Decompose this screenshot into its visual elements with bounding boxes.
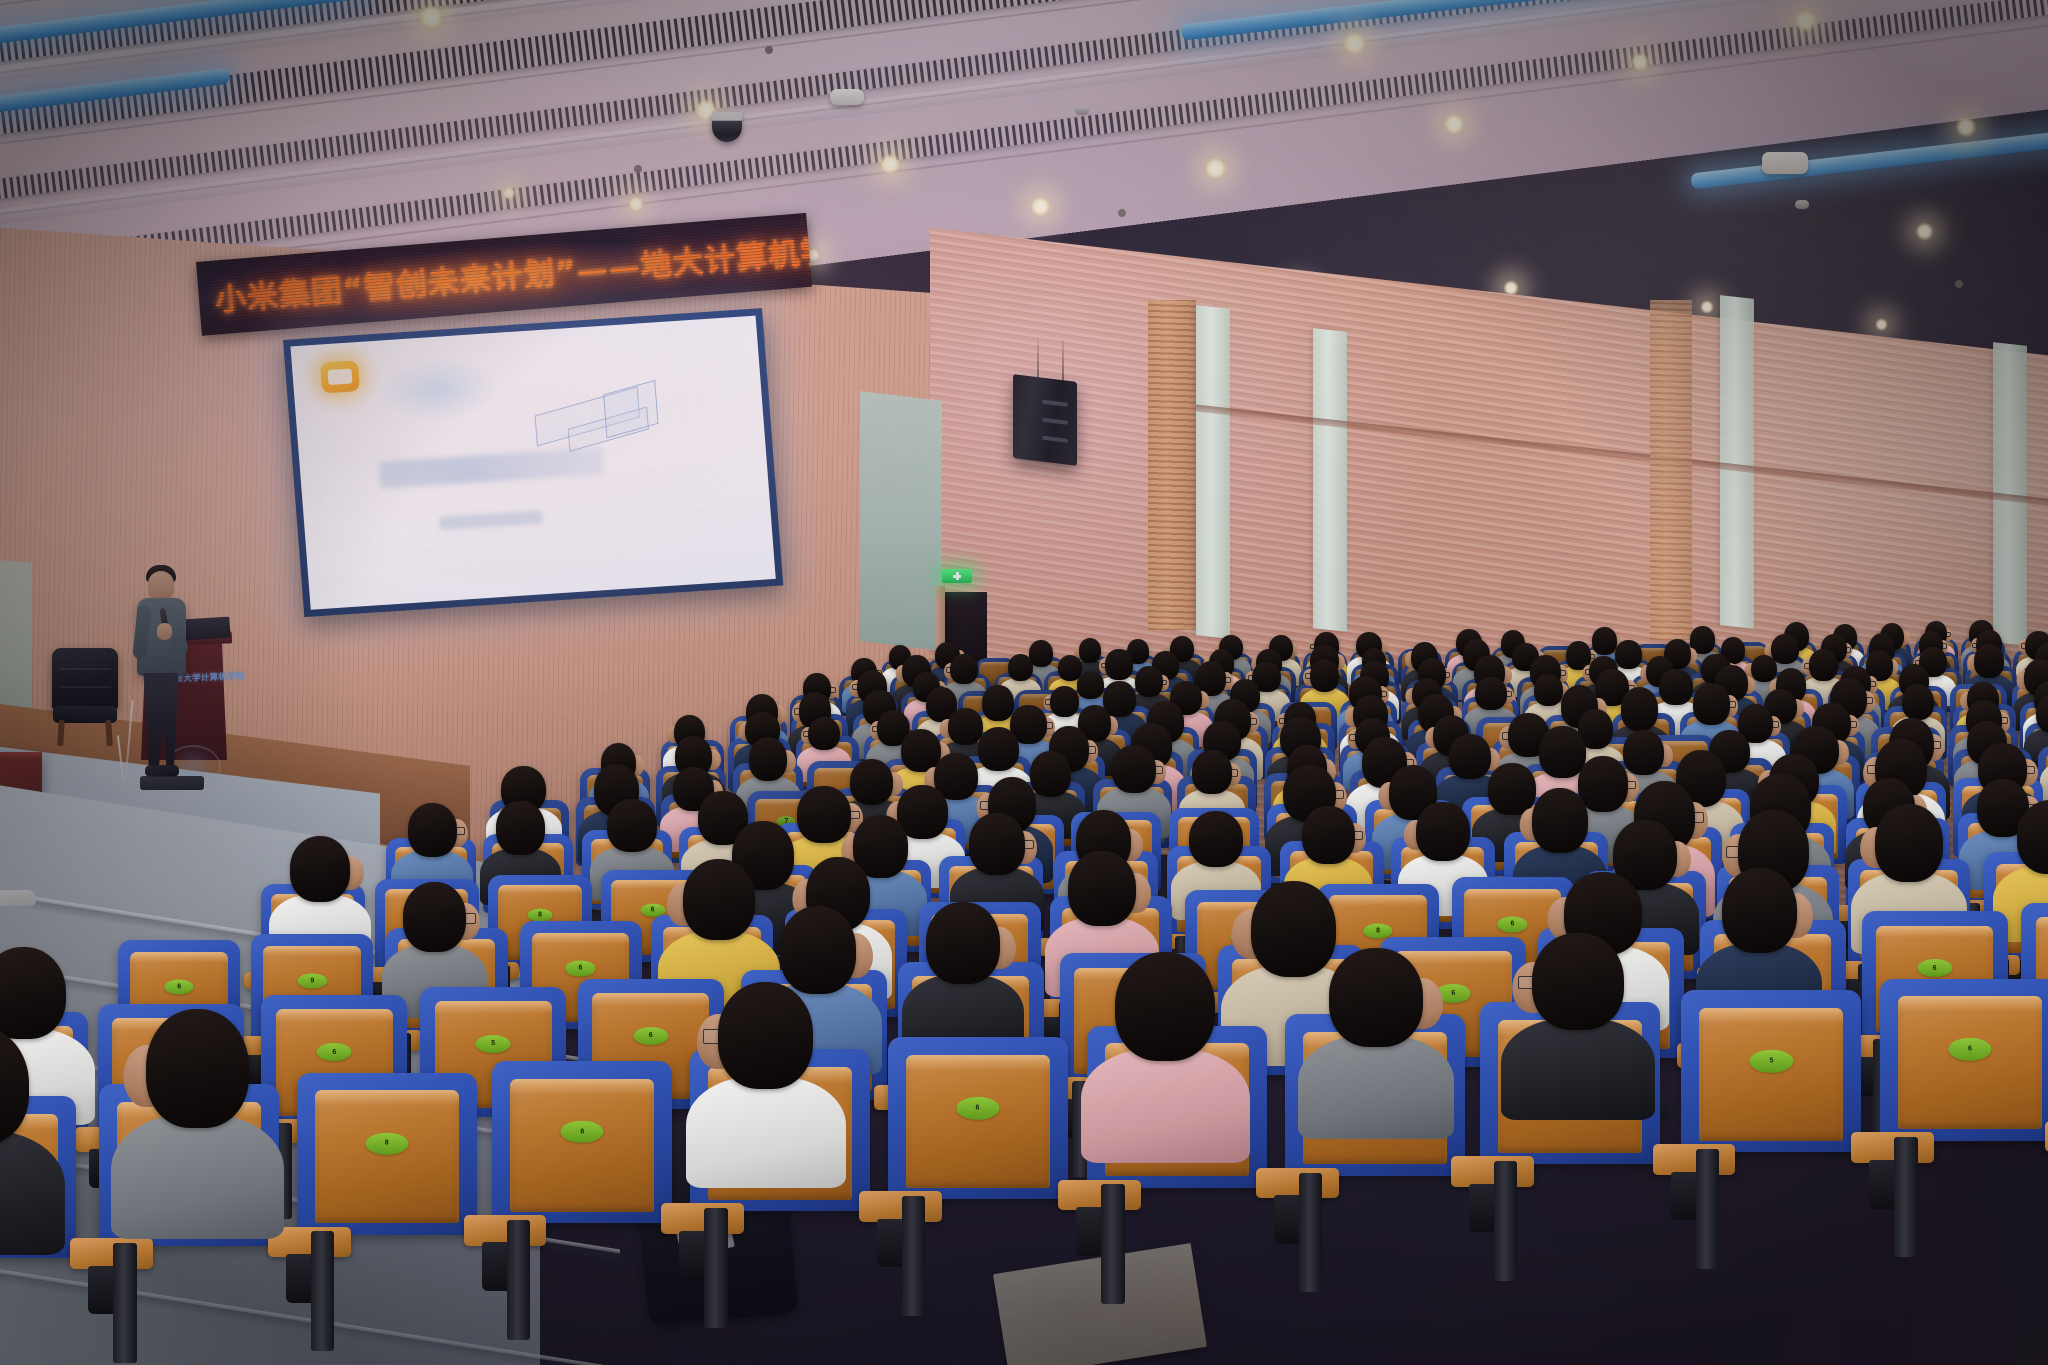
audience-member-head [1189, 811, 1243, 868]
audience-member-head [683, 859, 756, 941]
downlight [1630, 52, 1650, 72]
seat-armrest [464, 1215, 547, 1246]
audience-member [1329, 948, 1422, 1047]
audience-member [1192, 750, 1232, 794]
audience-member [2036, 694, 2048, 733]
audience-member [950, 654, 978, 685]
audience-member-head [1974, 644, 2004, 678]
audience-member [969, 813, 1025, 875]
sprinkler-icon [634, 165, 642, 173]
projection-screen [283, 308, 783, 617]
stage-chair [52, 648, 118, 744]
audience-member-head [1050, 686, 1079, 717]
audience-member [978, 727, 1020, 771]
audience-member-head [1449, 734, 1491, 779]
audience-member-head [1115, 952, 1215, 1061]
audience-member-head [1475, 677, 1507, 710]
audience-member-head [797, 786, 851, 843]
seat-back-panel: 5 [1699, 1008, 1843, 1141]
audience-member-head [1135, 666, 1163, 697]
downlight [1875, 318, 1888, 331]
audience-member-head [1615, 640, 1642, 669]
audience-member-head [408, 803, 457, 856]
audience-member-head [718, 982, 813, 1089]
audience-member-head [1192, 750, 1232, 794]
audience-member-head [1068, 851, 1136, 927]
audience-member [2017, 800, 2048, 874]
downlight [1955, 116, 1977, 138]
seat-number-label: 6 [566, 961, 595, 976]
audience-member-head [1532, 788, 1588, 853]
audience-member-head [926, 902, 999, 984]
wall-wood-column [1148, 300, 1196, 630]
audience-member [1623, 730, 1663, 775]
audience-member [1902, 684, 1934, 720]
audience-member-head [1623, 730, 1663, 775]
seat-pedestal [311, 1231, 334, 1351]
audience-member-head [850, 759, 893, 805]
audience-member-head [1693, 683, 1730, 725]
presenter-legs [142, 673, 180, 769]
seat-pedestal [1299, 1173, 1322, 1293]
downlight [1443, 113, 1465, 135]
seat-number-label: 6 [956, 1097, 999, 1120]
audience-member-head [403, 882, 466, 952]
seat-number-label: 8 [365, 1132, 408, 1155]
seat-armrest [1653, 1144, 1736, 1175]
mi-logo-icon [320, 361, 360, 394]
downlight [418, 4, 444, 30]
audience-member [850, 759, 893, 805]
audience-member-head [950, 654, 978, 685]
audience-member-head [982, 685, 1014, 721]
audience-member [408, 803, 457, 856]
seat-pedestal [113, 1243, 136, 1363]
seat-pedestal [1101, 1184, 1124, 1304]
exit-sign [942, 569, 972, 583]
audience-member-shoulders [1081, 1048, 1250, 1163]
audience-member-shoulders [686, 1076, 846, 1188]
seat-armrest [1851, 1132, 1934, 1163]
audience-member-shoulders [1298, 1035, 1455, 1139]
seat-armrest [661, 1203, 744, 1234]
seat-pedestal [902, 1196, 925, 1316]
audience-member [1105, 649, 1132, 680]
audience-member [1974, 644, 2004, 678]
audience-member-head [1112, 745, 1156, 793]
seat-number-label: 5 [476, 1035, 511, 1053]
audience-member [1112, 745, 1156, 793]
smoke-detector-icon [1795, 200, 1809, 209]
audience-member-head [2036, 694, 2048, 733]
seat-number-label: 8 [528, 908, 553, 921]
audience-member-head [1875, 804, 1944, 882]
audience-member-shoulders [111, 1114, 284, 1239]
seat-number-label: 6 [1498, 917, 1527, 932]
seat-pedestal [507, 1220, 530, 1340]
slide-subtitle [439, 510, 542, 530]
audience-member [1621, 687, 1659, 730]
downlight [1342, 31, 1367, 56]
downlight [502, 186, 516, 200]
wifi-access-point-icon [1762, 152, 1808, 174]
seat-number-label: 6 [1917, 959, 1952, 977]
sprinkler-icon [1118, 209, 1126, 217]
audience-member [1475, 677, 1507, 710]
seat-pedestal [1894, 1137, 1917, 1257]
audience-member [1416, 802, 1470, 861]
downlight [1204, 157, 1227, 180]
presenter-head [148, 571, 174, 601]
audience-member-head [1659, 669, 1693, 705]
downlight [628, 196, 644, 212]
audience-member [290, 836, 351, 902]
audience-member-head [1621, 687, 1659, 730]
seat-number-label: 6 [165, 980, 194, 995]
audience-member-head [1534, 674, 1563, 706]
audience-member-head [1251, 881, 1337, 977]
audience-member [1693, 683, 1730, 725]
seat-number-label: 6 [633, 1026, 668, 1044]
seat-pedestal [704, 1208, 727, 1328]
audience-member-head [1008, 654, 1033, 682]
seat-back-panel: 6 [510, 1079, 654, 1212]
auditorium-seat[interactable]: 6 [1880, 979, 2048, 1141]
audience-member-head [1329, 948, 1422, 1047]
audience-member [1488, 763, 1536, 814]
downlight [879, 153, 901, 175]
audience-member [718, 982, 813, 1089]
audience-member [1068, 851, 1136, 927]
audience-member [1189, 811, 1243, 868]
seat-number-label: 9 [298, 974, 327, 989]
seat-number-label: 6 [317, 1043, 352, 1061]
wall-pilaster [1196, 305, 1230, 639]
audience-member-head [780, 906, 856, 993]
audience-member-shoulders [1501, 1018, 1655, 1120]
stage-equipment [140, 776, 204, 790]
audience-member [1008, 654, 1033, 682]
seat-armrest [859, 1191, 942, 1222]
security-camera-icon [712, 112, 742, 142]
downlight [1700, 300, 1714, 314]
audience-member [607, 799, 658, 852]
wall-green-panel [860, 391, 942, 651]
audience-member [1615, 640, 1642, 669]
seat-pedestal [1696, 1149, 1719, 1269]
audience-member-head [496, 801, 545, 855]
audience-member [1115, 952, 1215, 1061]
audience-member [1659, 669, 1693, 705]
audience-member [1029, 640, 1053, 667]
downlight [1793, 8, 1818, 33]
auditorium-seat[interactable]: 5 [1681, 990, 1861, 1152]
audience-member [1251, 881, 1337, 977]
seat-armrest [1058, 1180, 1141, 1211]
presenter [131, 563, 193, 781]
audience-member-head [1105, 649, 1132, 680]
audience-member-head [1722, 868, 1797, 954]
audience-member [982, 685, 1014, 721]
audience-member-head [146, 1009, 249, 1128]
projection-screen-surface [291, 316, 776, 610]
auditorium-photo: 小米集团“智创未来计划”——地大计算机学院专项见面会 中国地质大学计算机学院 [0, 0, 2048, 1365]
audience-member [1722, 868, 1797, 954]
audience-member [403, 882, 466, 952]
wall-wood-column [1650, 300, 1692, 640]
downlight [1030, 196, 1051, 217]
audience-member [683, 859, 756, 941]
audience-member [1809, 649, 1838, 681]
audience-member [926, 902, 999, 984]
audience-member [797, 786, 851, 843]
audience-member-head [1416, 802, 1470, 861]
auditorium-seat[interactable]: 6 [492, 1061, 672, 1223]
smoke-detector-icon [1075, 106, 1089, 115]
presenter-hand [157, 623, 172, 640]
audience-member [1135, 666, 1163, 697]
shoe [0, 890, 36, 906]
audience-member [1534, 674, 1563, 706]
audience-member-head [978, 727, 1020, 771]
audience-member-head [808, 717, 840, 751]
audience-member-head [1592, 627, 1617, 655]
audience-member-head [2017, 800, 2048, 874]
wifi-access-point-icon [830, 89, 864, 105]
audience-member-head [749, 737, 788, 781]
line-array-speaker [1013, 374, 1077, 466]
seat-armrest [1451, 1156, 1534, 1187]
audience-member [1875, 804, 1944, 882]
audience-member-head [0, 1026, 29, 1145]
audience-member-head [1902, 684, 1934, 720]
audience-member-head [1532, 933, 1624, 1030]
seat-number-label: 6 [561, 1121, 604, 1144]
audience-member [146, 1009, 249, 1128]
seat-back-panel: 6 [1898, 996, 2042, 1129]
seat-number-label: 5 [1750, 1050, 1793, 1073]
audience-member-head [1077, 671, 1104, 699]
audience-member [1077, 671, 1104, 699]
sprinkler-icon [1955, 280, 1963, 288]
handout-paper [993, 1243, 1207, 1365]
audience-member-head [1809, 649, 1838, 681]
audience-member [1310, 659, 1340, 693]
audience-member [1592, 627, 1617, 655]
audience-member [780, 906, 856, 993]
seat-number-label: 6 [1948, 1038, 1991, 1061]
seat-back-panel: 8 [315, 1090, 459, 1223]
seat-pedestal [1494, 1161, 1517, 1281]
audience-member [808, 717, 840, 751]
audience-member-head [1302, 806, 1355, 864]
audience-member-head [607, 799, 658, 852]
wall-pilaster [1313, 328, 1347, 632]
audience-member [1532, 933, 1624, 1030]
audience-member [1449, 734, 1491, 779]
downlight [1915, 222, 1934, 241]
auditorium-seat[interactable]: 6 [888, 1037, 1068, 1199]
auditorium-seat[interactable]: 8 [297, 1073, 477, 1235]
audience-member-head [1029, 640, 1053, 667]
seat-armrest [70, 1238, 153, 1269]
audience-member [1302, 806, 1355, 864]
audience-member [0, 1026, 29, 1145]
audience-member-head [969, 813, 1025, 875]
audience-member-head [1310, 659, 1340, 693]
audience-member [1050, 686, 1079, 717]
seat-back-panel: 6 [906, 1055, 1050, 1188]
audience-member-head [1488, 763, 1536, 814]
audience-member [1532, 788, 1588, 853]
seat-armrest [1256, 1168, 1339, 1199]
audience-member-head [290, 836, 351, 902]
sprinkler-icon [765, 46, 773, 54]
audience-member [749, 737, 788, 781]
audience-member [496, 801, 545, 855]
